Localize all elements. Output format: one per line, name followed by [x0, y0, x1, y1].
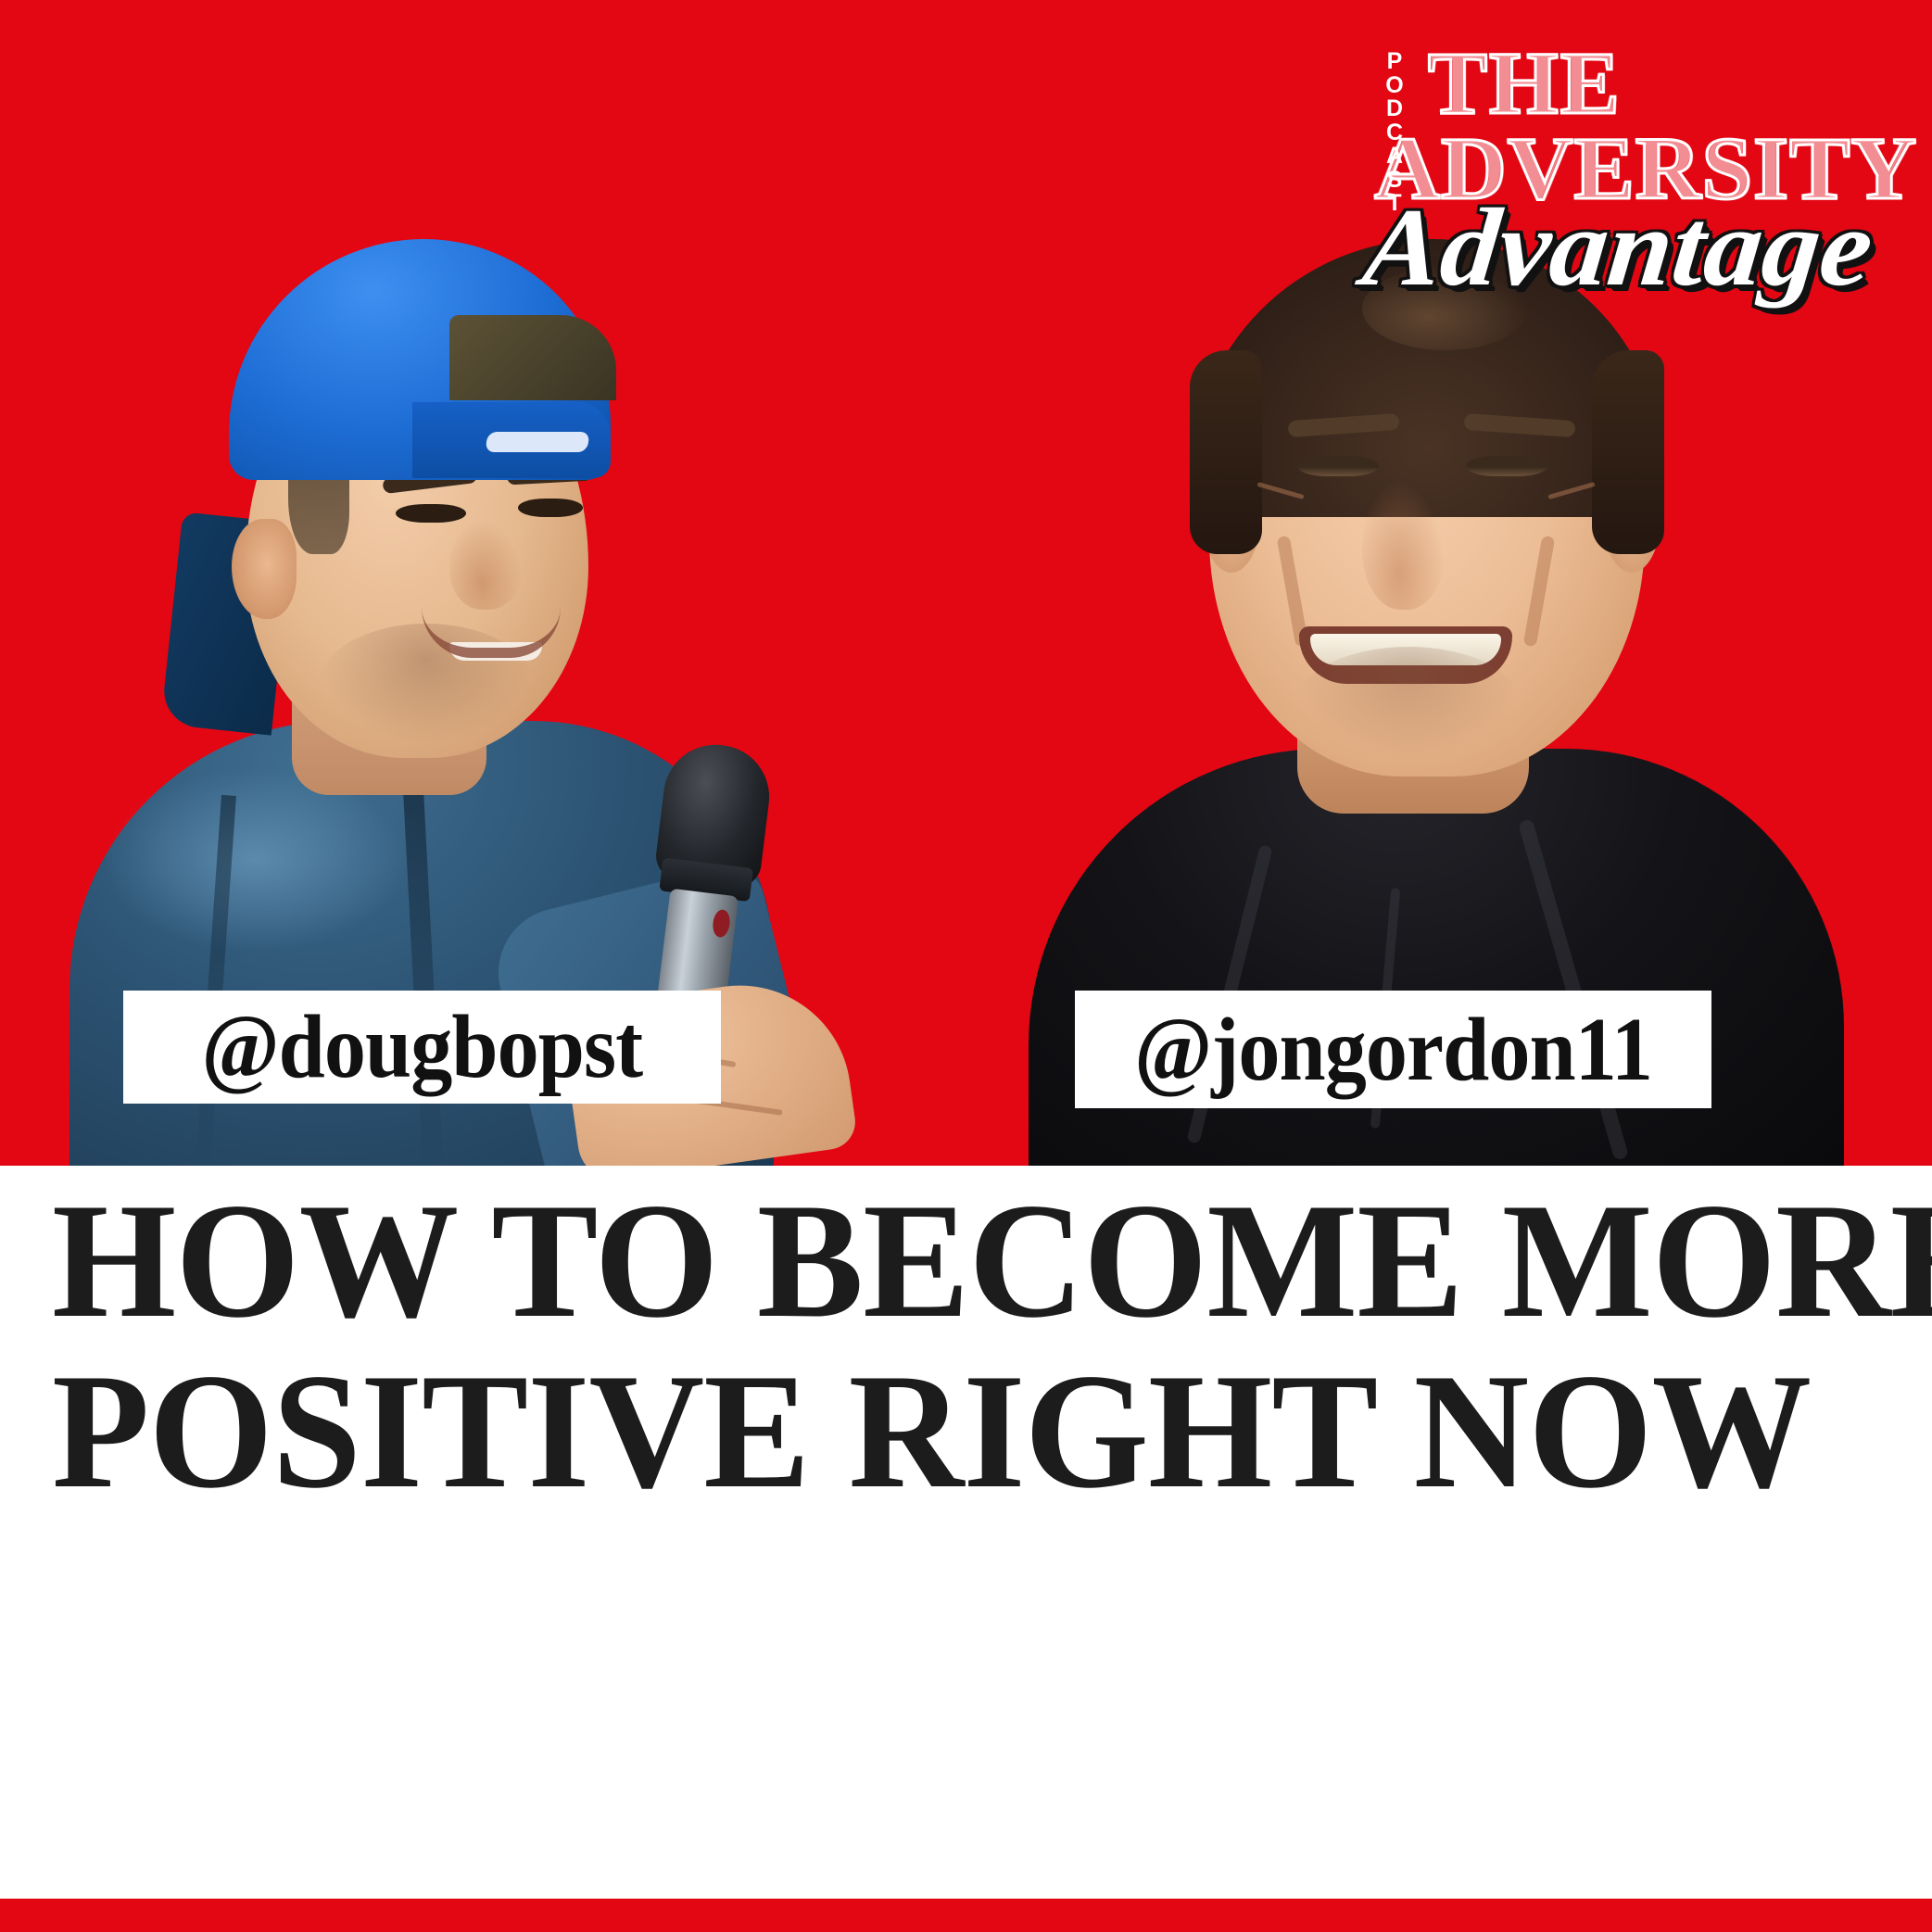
- handle-plate-left: @dougbopst: [123, 991, 721, 1104]
- left-guest-shirt-highlight: [102, 767, 408, 953]
- left-guest-ear: [232, 519, 297, 619]
- right-guest-chin: [1297, 647, 1520, 758]
- left-guest-eye: [518, 499, 583, 517]
- podcast-letter: O: [1374, 74, 1415, 98]
- episode-title: HOW TO BECOME MORE POSITIVE RIGHT NOW: [52, 1184, 1896, 1508]
- left-guest-nose: [449, 521, 522, 610]
- cap-logo: [485, 432, 589, 452]
- handle-text-left: @dougbopst: [202, 995, 643, 1099]
- right-guest-eye: [1466, 456, 1547, 476]
- right-guest-sidehair: [1190, 350, 1262, 554]
- brand-logo: P O D C A S T THE ADVERSITY Advantage: [1374, 28, 1893, 269]
- photo-panel: P O D C A S T THE ADVERSITY Advantage @d…: [0, 0, 1932, 1166]
- handle-text-right: @jongordon11: [1134, 998, 1652, 1102]
- bottom-accent-bar: [0, 1899, 1932, 1932]
- right-guest-eye: [1297, 456, 1379, 476]
- logo-word-advantage: Advantage: [1357, 183, 1878, 311]
- cap-back-opening: [449, 315, 616, 400]
- left-guest-eye: [396, 504, 466, 523]
- right-guest-nose: [1362, 480, 1446, 610]
- episode-title-line-2: POSITIVE RIGHT NOW: [52, 1355, 1840, 1509]
- right-guest-sidehair: [1592, 350, 1664, 554]
- podcast-cover-art: P O D C A S T THE ADVERSITY Advantage @d…: [0, 0, 1932, 1932]
- episode-title-line-1: HOW TO BECOME MORE: [52, 1184, 1840, 1338]
- handle-plate-right: @jongordon11: [1075, 991, 1711, 1108]
- podcast-letter: P: [1374, 50, 1415, 74]
